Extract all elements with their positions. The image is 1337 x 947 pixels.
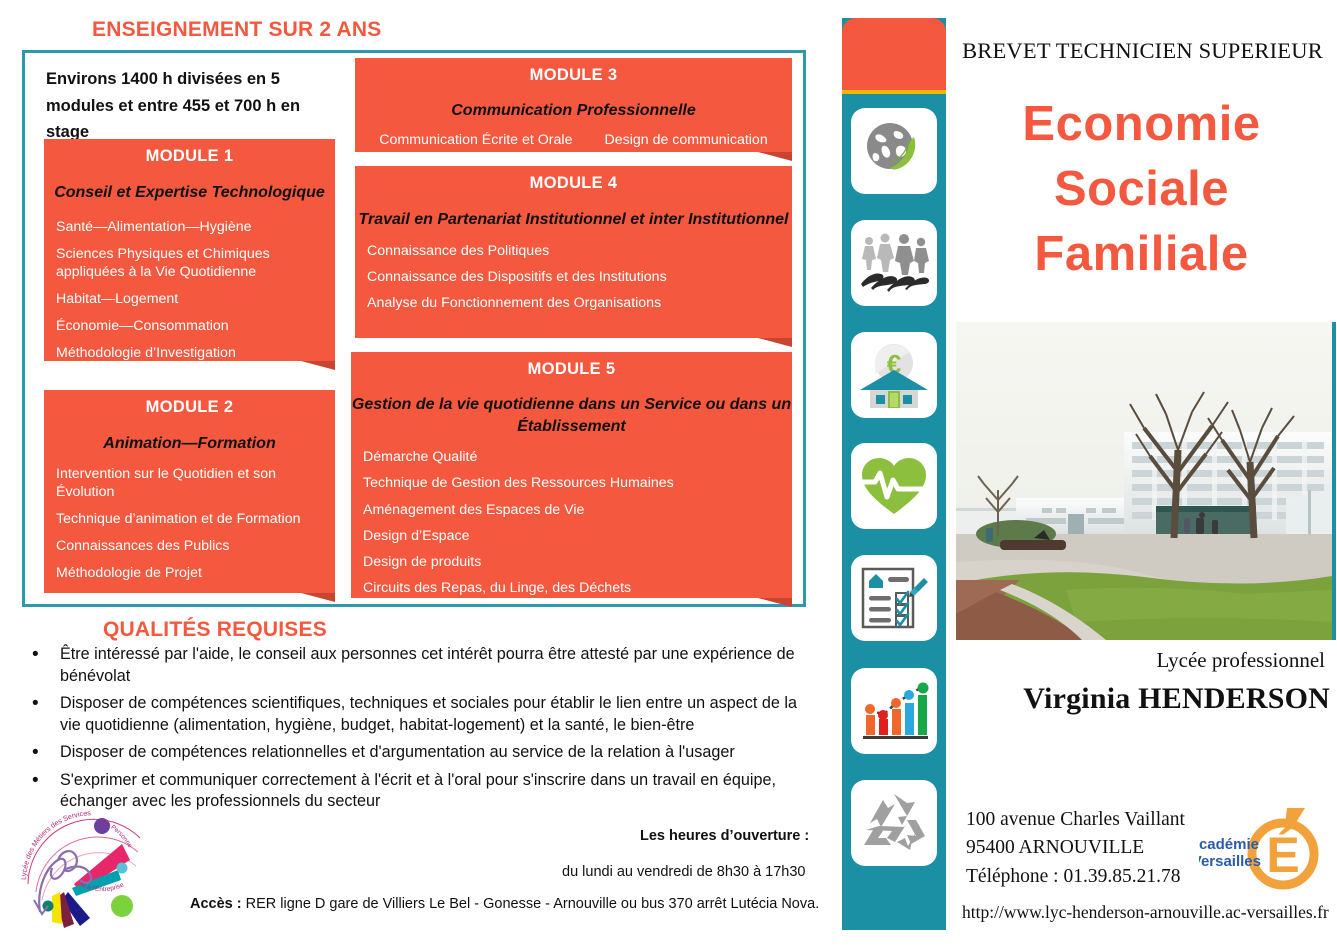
- icon-tile-heart-pulse: [851, 443, 937, 529]
- family-silhouettes-icon: [857, 232, 931, 294]
- icon-tile-bar-chart: [851, 668, 937, 754]
- qualite-item: S'exprimer et communiquer correctement à…: [24, 770, 814, 813]
- module-item-list: Connaissance des Politiques Connaissance…: [367, 242, 792, 313]
- brochure-page: ENSEIGNEMENT SUR 2 ANS Environs 1400 h d…: [0, 0, 1337, 947]
- address-line-1: 100 avenue Charles Vaillant: [966, 806, 1185, 834]
- module-item: Technique de Gestion des Ressources Huma…: [363, 474, 792, 492]
- qualite-item: Être intéressé par l'aide, le conseil au…: [24, 644, 814, 687]
- access-line: Accès : RER ligne D gare de Villiers Le …: [190, 896, 819, 912]
- module-item: Démarche Qualité: [363, 448, 792, 466]
- module-card-3: MODULE 3 Communication Professionnelle C…: [355, 58, 792, 152]
- icon-tile-checklist-pencil: [851, 555, 937, 641]
- qualite-item: Disposer de compétences scientifiques, t…: [24, 693, 814, 736]
- module-card-2: MODULE 2 Animation—Formation Interventio…: [44, 390, 335, 593]
- module-card-1: MODULE 1 Conseil et Expertise Technologi…: [44, 139, 335, 361]
- title-line-3: Familiale: [946, 222, 1337, 287]
- brevet-line: BREVET TECHNICIEN SUPERIEUR: [952, 38, 1333, 64]
- module-item: Santé—Alimentation—Hygiène: [56, 218, 335, 236]
- checklist-pencil-icon: [858, 564, 930, 632]
- module-card-4: MODULE 4 Travail en Partenariat Institut…: [355, 166, 792, 338]
- module-item: Design de communication: [604, 132, 767, 148]
- qualite-item: Disposer de compétences relationnelles e…: [24, 742, 814, 764]
- module-subtitle: Animation—Formation: [44, 433, 335, 455]
- module-item-list: Communication Écrite et Orale Design de …: [355, 132, 792, 148]
- academie-versailles-logo: É académie Versailles: [1199, 806, 1319, 892]
- module-item: Connaissance des Dispositifs et des Inst…: [367, 268, 792, 286]
- title-line-1: Economie: [946, 92, 1337, 157]
- module-item-list: Démarche Qualité Technique de Gestion de…: [363, 448, 792, 597]
- icon-tile-house-euro: €: [851, 332, 937, 418]
- module-number: MODULE 5: [351, 360, 792, 379]
- column-top-rule: [842, 90, 946, 94]
- icon-tile-family: [851, 220, 937, 306]
- module-item: Aménagement des Espaces de Vie: [363, 501, 792, 519]
- module-item: Sciences Physiques et Chimiques appliqué…: [56, 245, 335, 281]
- module-item: Connaissance des Politiques: [367, 242, 792, 260]
- module-item: Connaissances des Publics: [56, 537, 335, 555]
- module-item: Technique d’animation et de Formation: [56, 510, 335, 528]
- address-line-2: 95400 ARNOUVILLE: [966, 834, 1185, 862]
- module-number: MODULE 4: [355, 174, 792, 193]
- lycee-label: Lycée professionnel: [946, 648, 1325, 673]
- icon-tile-recycling: [851, 780, 937, 866]
- campus-photo: [956, 322, 1336, 640]
- left-panel: ENSEIGNEMENT SUR 2 ANS Environs 1400 h d…: [0, 0, 830, 947]
- module-card-5: MODULE 5 Gestion de la vie quotidienne d…: [351, 352, 792, 598]
- logo-mark-e: É: [1266, 827, 1299, 883]
- icon-column: €: [842, 18, 946, 930]
- bar-chart-growth-icon: [858, 681, 930, 741]
- module-item: Méthodologie d’Investigation: [56, 344, 335, 362]
- enseignement-title: ENSEIGNEMENT SUR 2 ANS: [92, 18, 382, 42]
- logo-line-versailles: Versailles: [1199, 853, 1261, 870]
- module-item: Économie—Consommation: [56, 317, 335, 335]
- qualites-title: QUALITÉS REQUISES: [103, 618, 327, 642]
- module-item: Habitat—Logement: [56, 290, 335, 308]
- lycee-name: Virginia HENDERSON: [946, 682, 1330, 716]
- module-item-list: Santé—Alimentation—Hygiène Sciences Phys…: [56, 218, 335, 363]
- hours-value: du lundi au vendredi de 8h30 à 17h30: [562, 864, 805, 880]
- module-item: Méthodologie de Projet: [56, 564, 335, 582]
- column-top-block: [842, 18, 946, 90]
- right-panel: BREVET TECHNICIEN SUPERIEUR Economie Soc…: [946, 0, 1337, 947]
- access-value: RER ligne D gare de Villiers Le Bel - Go…: [246, 896, 820, 912]
- address-block: 100 avenue Charles Vaillant 95400 ARNOUV…: [966, 806, 1185, 891]
- module-number: MODULE 3: [355, 66, 792, 85]
- module-item: Communication Écrite et Orale: [379, 132, 572, 148]
- module-number: MODULE 2: [44, 398, 335, 417]
- icon-tile-globe-leaf: [851, 108, 937, 194]
- logo-line-academie: académie: [1199, 836, 1259, 853]
- module-item-list: Intervention sur le Quotidien et son Évo…: [56, 465, 335, 583]
- hours-label: Les heures d’ouverture :: [640, 828, 809, 844]
- recycling-icon: [859, 790, 929, 856]
- module-subtitle: Conseil et Expertise Technologique: [44, 182, 335, 204]
- module-item: Design de produits: [363, 553, 792, 571]
- qualites-list: Être intéressé par l'aide, le conseil au…: [24, 644, 814, 819]
- intro-text: Environs 1400 h divisées en 5 modules et…: [46, 66, 336, 146]
- module-item: Intervention sur le Quotidien et son Évo…: [56, 465, 335, 501]
- access-label: Accès :: [190, 896, 242, 912]
- module-subtitle: Travail en Partenariat Institutionnel et…: [355, 209, 792, 231]
- page-title: Economie Sociale Familiale: [946, 92, 1337, 287]
- module-item: Analyse du Fonctionnement des Organisati…: [367, 294, 792, 312]
- campus-photo-image: [956, 322, 1332, 640]
- title-line-2: Sociale: [946, 157, 1337, 222]
- module-subtitle: Communication Professionnelle: [355, 100, 792, 122]
- module-number: MODULE 1: [44, 147, 335, 166]
- heart-pulse-icon: [859, 454, 929, 518]
- module-item: Design d’Espace: [363, 527, 792, 545]
- globe-leaf-icon: [858, 115, 930, 187]
- module-subtitle: Gestion de la vie quotidienne dans un Se…: [351, 394, 792, 437]
- website-url[interactable]: http://www.lyc-henderson-arnouville.ac-v…: [962, 902, 1329, 923]
- address-line-3: Téléphone : 01.39.85.21.78: [966, 863, 1185, 891]
- school-logo: Lycée des Métiers des Services à la Pers…: [18, 808, 170, 936]
- module-item: Circuits des Repas, du Linge, des Déchet…: [363, 579, 792, 597]
- house-euro-icon: €: [858, 342, 930, 408]
